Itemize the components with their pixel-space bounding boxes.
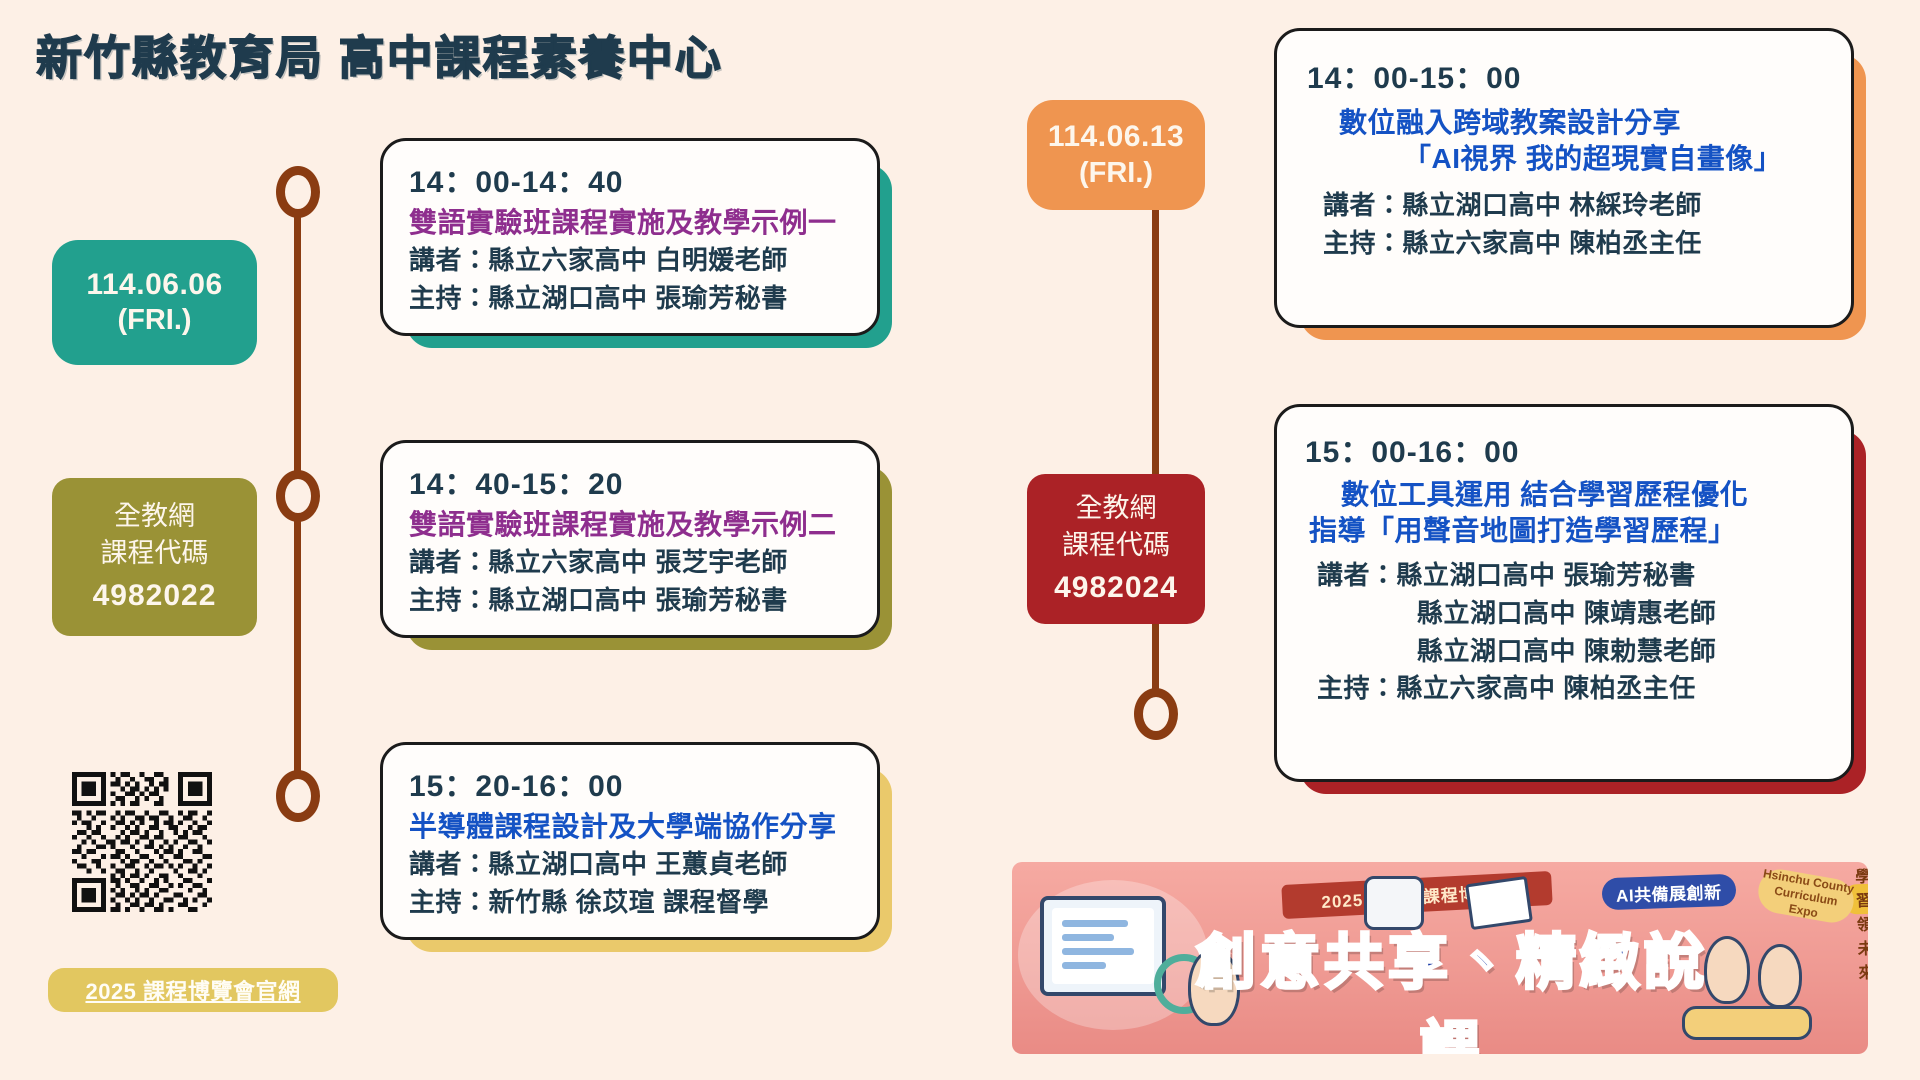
qr-code-label-text: 2025 課程博覽會官網 [85, 974, 300, 1006]
session-topic: 半導體課程設計及大學端協作分享 [409, 809, 855, 845]
code-badge-line1: 全教網 [114, 498, 195, 535]
session-topic: 雙語實驗班課程實施及教學示例二 [409, 507, 855, 543]
session-host: 主持：縣立六家高中 陳柏丞主任 [1323, 226, 1829, 262]
code-badge-code: 4982024 [1054, 567, 1178, 608]
session-time: 14：00-15：00 [1307, 53, 1829, 97]
code-badge-day2: 全教網 課程代碼 4982024 [1027, 474, 1205, 624]
date-badge-day1: 114.06.06 (FRI.) [52, 240, 257, 365]
qr-code-image [72, 772, 212, 912]
timeline-node-left-1 [276, 166, 320, 218]
session-speaker: 講者：縣立六家高中 張芝宇老師 [409, 545, 855, 581]
session-card-3: 15：20-16：00 半導體課程設計及大學端協作分享 講者：縣立湖口高中 王蕙… [380, 742, 880, 940]
timeline-node-left-2 [276, 470, 320, 522]
student-figure-right-1 [1704, 936, 1750, 1004]
code-badge-code: 4982022 [93, 575, 217, 616]
date-badge-date: 114.06.06 [86, 267, 222, 304]
date-badge-day2: 114.06.13 (FRI.) [1027, 100, 1205, 210]
student-figure-right-2 [1758, 944, 1802, 1008]
session-host: 主持：縣立湖口高中 張瑜芳秘書 [409, 281, 855, 317]
date-badge-weekday: (FRI.) [117, 303, 191, 338]
banner-corner-label: Hsinchu County Curriculum Expo [1755, 866, 1857, 926]
code-badge-day1: 全教網 課程代碼 4982022 [52, 478, 257, 636]
session-speaker-extra-1: 縣立湖口高中 陳靖惠老師 [1417, 596, 1831, 632]
poster-root: 新竹縣教育局 高中課程素養中心 114.06.06 (FRI.) 全教網 課程代… [0, 0, 1920, 1080]
timeline-node-left-3 [276, 770, 320, 822]
qr-code[interactable] [72, 772, 212, 912]
session-topic-line1: 數位工具運用 結合學習歷程優化 [1341, 477, 1831, 513]
monitor-icon [1040, 896, 1166, 996]
session-topic-line2: 指導「用聲音地圖打造學習歷程」 [1309, 513, 1831, 549]
qr-code-label-button[interactable]: 2025 課程博覽會官網 [48, 968, 338, 1012]
date-badge-weekday: (FRI.) [1079, 156, 1153, 191]
session-time: 15：00-16：00 [1305, 427, 1831, 471]
code-badge-line2: 課程代碼 [1062, 527, 1170, 564]
promo-banner-art: 2025 新竹縣課程博覽會 AI共備展創新 自主學習領未來 創意共享、精緻說課 … [1012, 862, 1868, 1054]
page-title: 新竹縣教育局 高中課程素養中心 [36, 22, 723, 88]
table-shape [1682, 1006, 1812, 1040]
promo-banner[interactable]: 2025 新竹縣課程博覽會 AI共備展創新 自主學習領未來 創意共享、精緻說課 … [1012, 862, 1868, 1054]
session-time: 14：40-15：20 [409, 459, 855, 503]
session-host: 主持：縣立六家高中 陳柏丞主任 [1317, 671, 1831, 707]
session-topic: 雙語實驗班課程實施及教學示例一 [409, 205, 855, 241]
timeline-line-right [1152, 200, 1159, 720]
session-speaker-extra-2: 縣立湖口高中 陳勅慧老師 [1417, 634, 1831, 670]
session-speaker: 講者：縣立六家高中 白明媛老師 [409, 243, 855, 279]
session-speaker: 講者：縣立湖口高中 林綵玲老師 [1323, 188, 1829, 224]
session-card-1: 14：00-14：40 雙語實驗班課程實施及教學示例一 講者：縣立六家高中 白明… [380, 138, 880, 336]
session-card-2: 14：40-15：20 雙語實驗班課程實施及教學示例二 講者：縣立六家高中 張芝… [380, 440, 880, 638]
session-card-4: 14：00-15：00 數位融入跨域教案設計分享 「AI視界 我的超現實自畫像」… [1274, 28, 1854, 328]
session-time: 15：20-16：00 [409, 761, 855, 805]
session-speaker: 講者：縣立湖口高中 張瑜芳秘書 [1317, 558, 1831, 594]
session-host: 主持：新竹縣 徐苡瑄 課程督學 [409, 885, 855, 921]
session-topic-line1: 數位融入跨域教案設計分享 [1339, 105, 1829, 141]
code-badge-line2: 課程代碼 [101, 535, 209, 572]
session-card-5: 15：00-16：00 數位工具運用 結合學習歷程優化 指導「用聲音地圖打造學習… [1274, 404, 1854, 782]
session-host: 主持：縣立湖口高中 張瑜芳秘書 [409, 583, 855, 619]
code-badge-line1: 全教網 [1076, 490, 1157, 527]
session-speaker: 講者：縣立湖口高中 王蕙貞老師 [409, 847, 855, 883]
banner-headline: 創意共享、精緻說課 [1172, 914, 1732, 1054]
date-badge-date: 114.06.13 [1048, 119, 1184, 156]
session-time: 14：00-14：40 [409, 157, 855, 201]
session-topic-line2: 「AI視界 我的超現實自畫像」 [1403, 141, 1829, 177]
timeline-node-right-2 [1134, 688, 1178, 740]
banner-tag-ai: AI共備展創新 [1601, 874, 1736, 911]
